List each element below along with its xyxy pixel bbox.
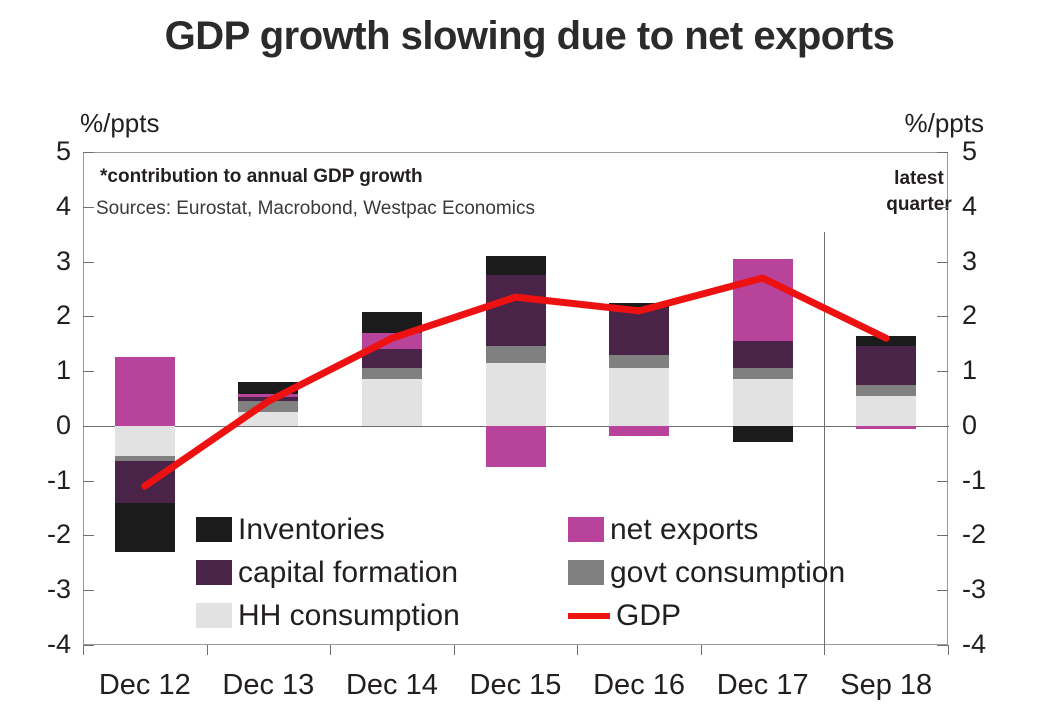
y-tick-label: -2 — [962, 521, 1008, 548]
bar-segment — [733, 368, 793, 379]
y-tick-label: 0 — [25, 412, 71, 439]
y-tick-label: -4 — [962, 631, 1008, 658]
bar-segment — [362, 349, 422, 368]
legend-line-swatch — [568, 603, 610, 628]
legend-color-swatch — [196, 517, 232, 542]
bar-segment — [362, 379, 422, 426]
y-tick-label: 2 — [25, 302, 71, 329]
bar-segment — [238, 394, 298, 397]
x-tick — [83, 645, 84, 655]
y-tick — [937, 207, 948, 208]
y-tick — [83, 262, 94, 263]
y-tick-label: 1 — [25, 357, 71, 384]
y-tick — [83, 426, 94, 427]
bar-segment — [733, 341, 793, 368]
y-tick — [937, 426, 948, 427]
bar-segment — [609, 426, 669, 436]
bar-segment — [609, 368, 669, 426]
x-axis-label: Dec 16 — [593, 669, 685, 702]
y-tick — [937, 262, 948, 263]
y-tick-label: -3 — [25, 576, 71, 603]
y-tick-label: 2 — [962, 302, 1008, 329]
bar-segment — [115, 461, 175, 502]
x-tick — [207, 645, 208, 655]
x-axis-label: Dec 15 — [470, 669, 562, 702]
y-tick — [83, 152, 94, 153]
y-tick-label: 4 — [962, 193, 1008, 220]
legend-item[interactable]: net exports — [568, 513, 856, 547]
bar-segment — [486, 363, 546, 426]
y-tick — [83, 590, 94, 591]
y-tick — [83, 645, 94, 646]
bar-segment — [856, 385, 916, 396]
legend-item[interactable]: capital formation — [196, 556, 568, 590]
y-tick — [937, 316, 948, 317]
y-tick-label: 0 — [962, 412, 1008, 439]
bar-segment — [238, 397, 298, 401]
bar-segment — [856, 336, 916, 347]
y-tick-label: 4 — [25, 193, 71, 220]
bar-segment — [609, 303, 669, 308]
legend-label: capital formation — [238, 556, 458, 590]
bar-segment — [238, 382, 298, 394]
legend-color-swatch — [196, 603, 232, 628]
y-axis-unit-left: %/ppts — [80, 108, 160, 139]
legend-color-swatch — [196, 560, 232, 585]
y-tick-label: 1 — [962, 357, 1008, 384]
legend-label: GDP — [616, 599, 681, 633]
x-tick — [330, 645, 331, 655]
y-tick — [83, 316, 94, 317]
legend-item[interactable]: Inventories — [196, 513, 568, 547]
bar-segment — [856, 426, 916, 429]
latest-quarter-label: latest quarter — [859, 166, 979, 217]
page-title: GDP growth slowing due to net exports — [0, 14, 1059, 59]
y-tick-label: -4 — [25, 631, 71, 658]
legend-item[interactable]: GDP — [568, 599, 856, 633]
sources-note: Sources: Eurostat, Macrobond, Westpac Ec… — [96, 198, 535, 220]
bar-segment — [733, 379, 793, 426]
y-tick-label: 5 — [25, 138, 71, 165]
latest-quarter-line2: quarter — [886, 194, 951, 215]
x-axis-label: Dec 14 — [346, 669, 438, 702]
y-tick — [937, 645, 948, 646]
bar-segment — [856, 396, 916, 426]
y-tick-label: -2 — [25, 521, 71, 548]
bar-segment — [486, 426, 546, 467]
bar-segment — [362, 312, 422, 333]
bar-segment — [238, 401, 298, 412]
y-tick — [83, 535, 94, 536]
legend-item[interactable]: HH consumption — [196, 599, 568, 633]
bar-segment — [115, 503, 175, 552]
legend-label: Inventories — [238, 513, 385, 547]
y-tick — [83, 481, 94, 482]
bar-segment — [486, 256, 546, 275]
x-axis-label: Sep 18 — [840, 669, 932, 702]
y-tick-label: -3 — [962, 576, 1008, 603]
x-axis-label: Dec 12 — [99, 669, 191, 702]
y-tick — [937, 481, 948, 482]
x-tick — [948, 645, 949, 655]
legend-label: govt consumption — [610, 556, 845, 590]
bar-segment — [733, 259, 793, 341]
y-tick-label: 3 — [962, 248, 1008, 275]
y-tick-label: -1 — [25, 467, 71, 494]
y-tick-label: 3 — [25, 248, 71, 275]
bar-segment — [486, 346, 546, 362]
y-tick — [83, 371, 94, 372]
latest-quarter-line1: latest — [894, 168, 944, 189]
bar-segment — [362, 368, 422, 379]
y-tick — [937, 152, 948, 153]
y-tick — [83, 207, 94, 208]
legend-color-swatch — [568, 560, 604, 585]
bar-segment — [486, 275, 546, 346]
x-tick — [454, 645, 455, 655]
bar-segment — [115, 426, 175, 456]
y-tick — [937, 371, 948, 372]
contribution-note: *contribution to annual GDP growth — [100, 166, 423, 188]
bar-segment — [733, 426, 793, 442]
legend-label: HH consumption — [238, 599, 460, 633]
y-tick-label: -1 — [962, 467, 1008, 494]
bar-segment — [856, 346, 916, 384]
x-axis-label: Dec 13 — [222, 669, 314, 702]
x-tick — [701, 645, 702, 655]
y-tick — [937, 590, 948, 591]
legend-label: net exports — [610, 513, 758, 547]
legend: Inventoriesnet exportscapital formationg… — [196, 508, 856, 637]
y-axis-unit-right: %/ppts — [905, 108, 985, 139]
legend-item[interactable]: govt consumption — [568, 556, 856, 590]
bar-segment — [115, 357, 175, 425]
bar-segment — [362, 333, 422, 349]
x-axis-label: Dec 17 — [717, 669, 809, 702]
x-tick — [824, 645, 825, 655]
y-tick — [937, 535, 948, 536]
y-tick-label: 5 — [962, 138, 1008, 165]
bar-segment — [609, 308, 669, 355]
legend-color-swatch — [568, 517, 604, 542]
bar-segment — [609, 355, 669, 369]
x-tick — [577, 645, 578, 655]
bar-segment — [238, 412, 298, 426]
